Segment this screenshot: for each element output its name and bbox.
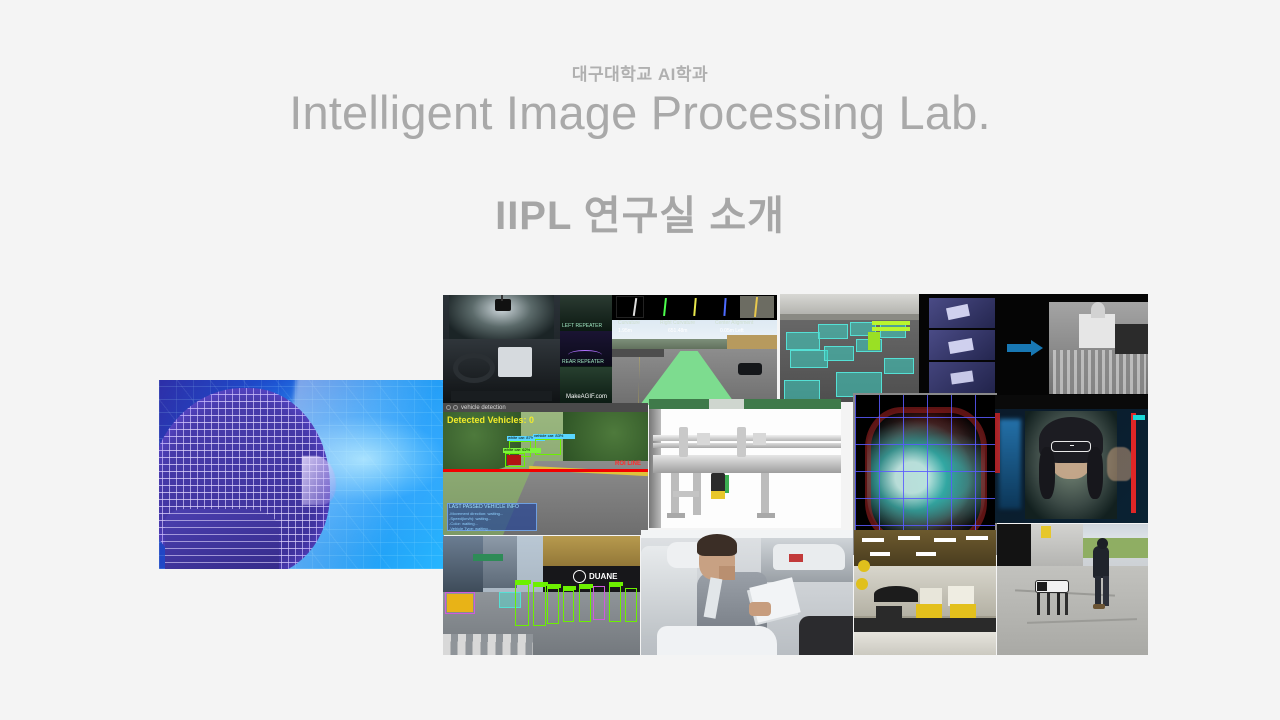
blue-arrow-icon [1007,344,1033,352]
presentation-slide: 대구대학교 AI학과 Intelligent Image Processing … [0,0,1280,720]
tile-tesla-interior [443,295,560,405]
roi-line-label: ROI LINE [615,461,641,467]
tile-guardrail-rig [649,399,841,528]
tile-aerial-satellite [919,294,1148,402]
tile-autonomous-passenger [641,530,853,655]
tile-warehouse-robotics [854,530,996,655]
ai-wireframe-head-image [159,380,444,569]
slide-heading: IIPL 연구실 소개 [0,183,1280,241]
detected-counter: Detected Vehicles: 0 [447,415,534,425]
info-panel-title: LAST PASSED VEHICLE INFO [449,504,519,510]
research-image-collage: LEFT REPEATER REAR REPEATER MakeAGIF.com… [443,294,1148,655]
tile-pedestrian-detection: DUANE [443,536,640,655]
person-figure [1093,546,1109,578]
window-title: vehicle detection [461,405,506,411]
glasses-icon [1051,441,1091,452]
tile-quadruped-robot [997,524,1148,655]
tile-lane-detection: Curvature Right Curvature Center Alignme… [612,295,777,405]
tile-face-recognition [995,395,1148,523]
page-title: Intelligent Image Processing Lab. [0,86,1280,140]
tile-parking-segmentation [780,294,919,402]
slide-subtitle: 대구대학교 AI학과 [0,60,1280,85]
tile-vehicle-detection: vehicle detection ROI LINE Detected Vehi… [443,403,648,535]
tile-camera-feeds: LEFT REPEATER REAR REPEATER MakeAGIF.com [560,295,612,405]
wireframe-neck-shape [165,509,279,569]
